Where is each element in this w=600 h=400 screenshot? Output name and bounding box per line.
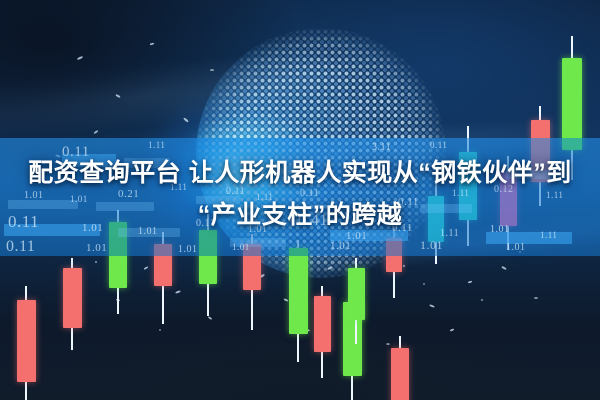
- headline-line-2: “产业支柱”的跨越: [0, 194, 600, 236]
- band-number: 0.11: [430, 140, 447, 150]
- candle-body: [314, 296, 331, 352]
- candle-body: [348, 268, 365, 320]
- promo-banner: 0.111.113.110.111.011.010.211.110.111.11…: [0, 0, 600, 400]
- candle-body: [289, 248, 308, 334]
- band-number: 1.01: [86, 242, 107, 254]
- candle-body: [63, 268, 82, 328]
- page-title: 配资查询平台 让人形机器人实现从“钢铁伙伴”到 “产业支柱”的跨越: [0, 152, 600, 236]
- headline-line-1: 配资查询平台 让人形机器人实现从“钢铁伙伴”到: [0, 152, 600, 194]
- band-number: 1.01: [330, 240, 351, 252]
- band-number: 1.01: [178, 244, 198, 255]
- candle-body: [562, 58, 582, 150]
- band-number: 1.01: [232, 242, 250, 252]
- band-number: 1.01: [506, 242, 526, 253]
- candle-body: [17, 300, 36, 382]
- band-number: 0.11: [6, 238, 35, 256]
- band-number: 1.11: [148, 140, 165, 150]
- band-number: 1.01: [420, 238, 443, 253]
